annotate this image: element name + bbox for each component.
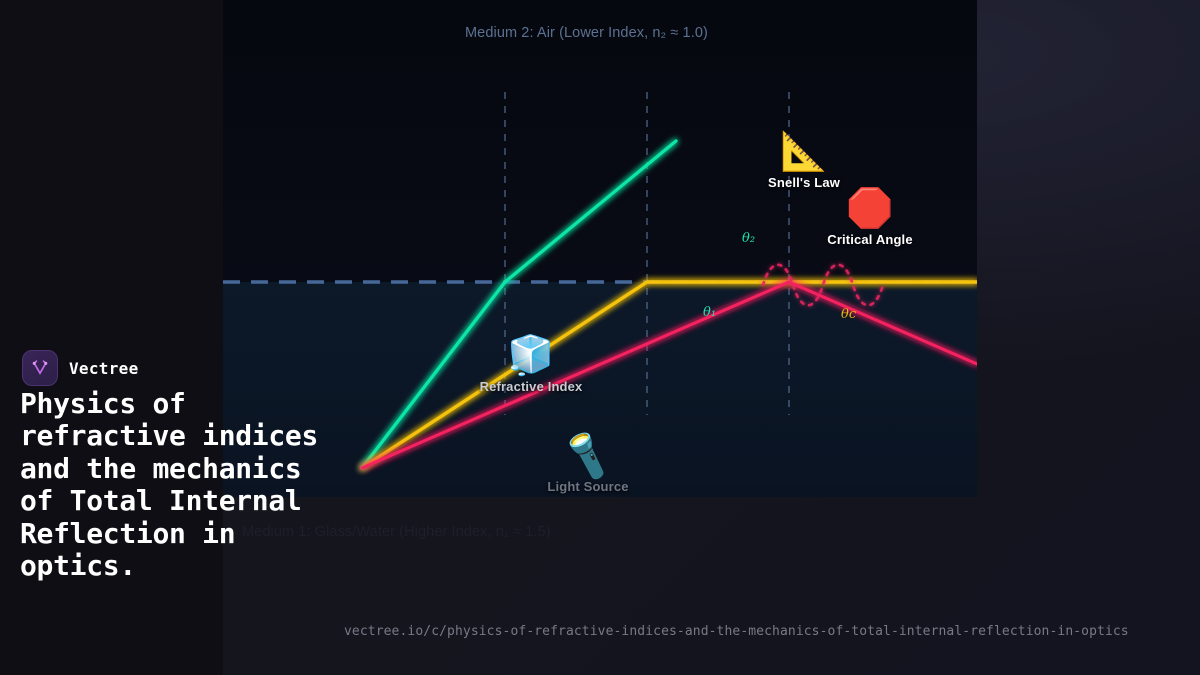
- triangular-ruler-icon: 📐: [719, 132, 889, 170]
- marker-label: Light Source: [503, 479, 673, 494]
- marker-label: Critical Angle: [785, 232, 955, 247]
- flashlight-icon: 🔦: [560, 430, 617, 481]
- marker-light-source: 🔦 Light Source: [503, 436, 673, 494]
- ray-diagram-svg: [223, 0, 977, 497]
- refraction-ray: [362, 141, 676, 468]
- stop-sign-octagon-icon: 🛑: [785, 189, 955, 227]
- brand: Vectree: [22, 350, 139, 386]
- marker-refractive-index: 🧊 Refractive Index: [446, 336, 616, 394]
- page-title: Physics of refractive indices and the me…: [20, 388, 320, 582]
- brand-name: Vectree: [69, 359, 139, 378]
- marker-critical-angle: 🛑 Critical Angle: [785, 189, 955, 247]
- marker-label: Refractive Index: [446, 379, 616, 394]
- vectree-tree-logo-icon: [22, 350, 58, 386]
- optics-diagram-canvas: Medium 2: Air (Lower Index, n₂ ≈ 1.0) 📐 …: [223, 0, 977, 497]
- ice-cube-icon: 🧊: [446, 336, 616, 374]
- marker-snells-law: 📐 Snell's Law: [719, 132, 889, 190]
- footer-url: vectree.io/c/physics-of-refractive-indic…: [344, 624, 1129, 639]
